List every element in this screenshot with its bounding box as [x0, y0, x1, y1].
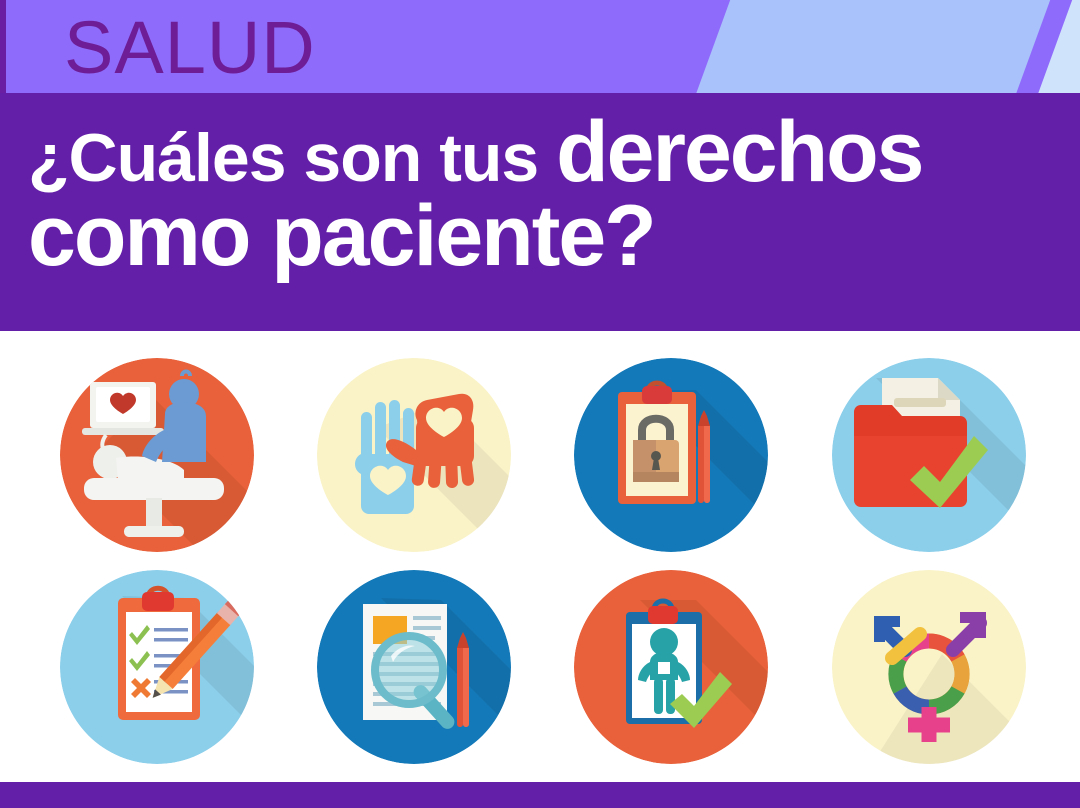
icon-cell-clipboard-person-approved[interactable]	[574, 570, 768, 764]
document-magnifier-review-icon	[317, 570, 511, 764]
clipboard-person-approved-icon	[574, 570, 768, 764]
clipboard-padlock-privacy-icon	[574, 358, 768, 552]
icon-cell-folder-document-check[interactable]	[832, 358, 1026, 552]
infographic-page: SALUD ¿Cuáles son tus derechos como paci…	[0, 0, 1080, 808]
title-line-1: ¿Cuáles son tus derechos	[28, 109, 1063, 197]
folder-document-check-icon	[832, 358, 1026, 552]
gender-diversity-symbol-icon	[832, 570, 1026, 764]
banner-diagonal-band-light-blue	[687, 0, 1068, 93]
page-title: ¿Cuáles son tus derechos como paciente?	[28, 109, 1063, 280]
icon-cell-caring-hands-hearts[interactable]	[317, 358, 511, 552]
category-label: SALUD	[64, 4, 316, 92]
caring-hands-hearts-icon	[317, 358, 511, 552]
clipboard-checklist-pencil-icon	[60, 570, 254, 764]
icon-cell-clipboard-checklist-pencil[interactable]	[60, 570, 254, 764]
icon-grid	[0, 331, 1080, 782]
title-line-2: como paciente?	[28, 193, 1063, 281]
icon-cell-clipboard-padlock-privacy[interactable]	[574, 358, 768, 552]
footer-bar	[0, 782, 1080, 808]
top-banner: SALUD	[0, 0, 1080, 93]
title-band: ¿Cuáles son tus derechos como paciente?	[0, 93, 1080, 331]
icon-cell-doctor-patient-care[interactable]	[60, 358, 254, 552]
title-line-1-heavy: derechos	[556, 104, 922, 200]
icon-cell-gender-diversity-symbol[interactable]	[832, 570, 1026, 764]
icon-cell-document-magnifier-review[interactable]	[317, 570, 511, 764]
doctor-patient-care-icon	[60, 358, 254, 552]
title-line-1-light: ¿Cuáles son tus	[28, 120, 556, 196]
